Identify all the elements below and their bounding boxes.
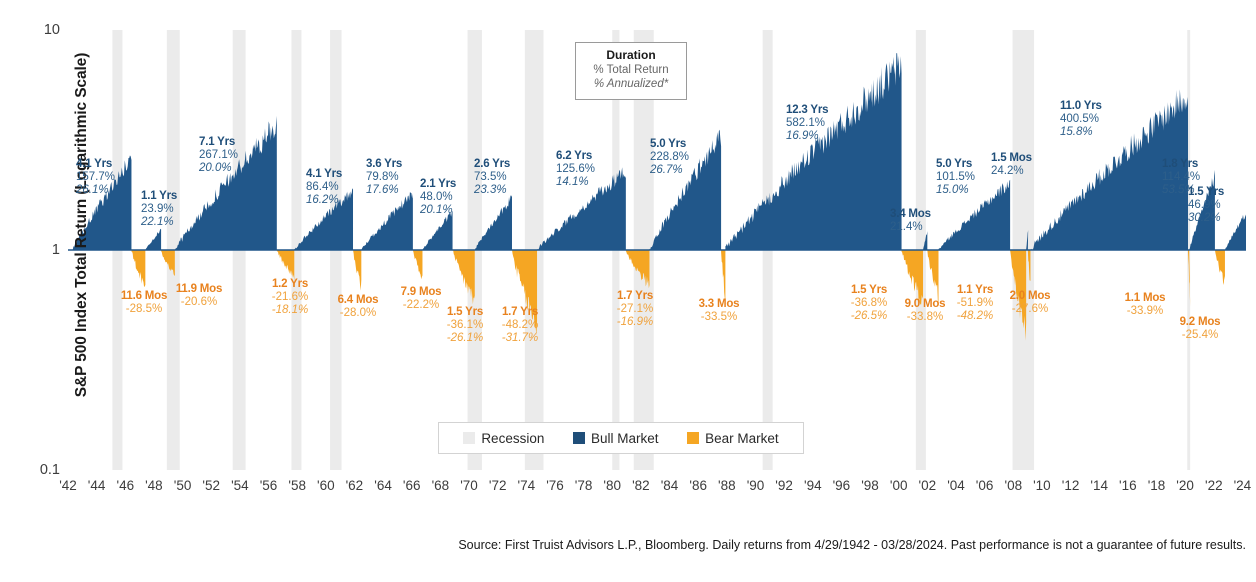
x-tick-62: '62 [346, 478, 364, 493]
bull-market-area [145, 229, 161, 250]
recession-swatch-icon [463, 432, 475, 444]
bull-market-swatch-icon [573, 432, 585, 444]
x-tick-96: '96 [833, 478, 851, 493]
x-tick-90: '90 [747, 478, 765, 493]
x-tick-48: '48 [145, 478, 163, 493]
x-tick-84: '84 [661, 478, 679, 493]
bull-market-area [939, 180, 1011, 250]
duration-key-box: Duration % Total Return % Annualized* [575, 42, 687, 100]
bull-market-area [649, 130, 721, 250]
bull-market-area [1225, 215, 1246, 250]
x-tick-74: '74 [518, 478, 536, 493]
x-tick-06: '06 [976, 478, 994, 493]
bear-market-swatch-icon [687, 432, 699, 444]
x-tick-16: '16 [1119, 478, 1137, 493]
x-axis: '42'44'46'48'50'52'54'56'58'60'62'64'66'… [68, 478, 1246, 502]
bull-market-area [1189, 170, 1215, 250]
x-tick-98: '98 [861, 478, 879, 493]
bull-market-area [361, 192, 413, 250]
duration-key-title: Duration [582, 48, 680, 63]
x-tick-78: '78 [575, 478, 593, 493]
x-tick-02: '02 [919, 478, 937, 493]
duration-key-annualized: % Annualized* [582, 77, 680, 91]
y-tick-0.1: 0.1 [40, 462, 60, 478]
chart-page: 10 1 0.1 S&P 500 Index Total Return (Log… [0, 0, 1256, 582]
x-tick-18: '18 [1148, 478, 1166, 493]
x-tick-56: '56 [260, 478, 278, 493]
source-note: Source: First Truist Advisors L.P., Bloo… [0, 538, 1246, 552]
x-tick-64: '64 [374, 478, 392, 493]
bull-market-area [294, 188, 353, 250]
legend-item-bull-market[interactable]: Bull Market [573, 431, 659, 446]
bull-market-area [537, 167, 626, 250]
bull-market-area [725, 53, 901, 250]
x-tick-70: '70 [460, 478, 478, 493]
bull-market-area [175, 116, 277, 250]
bear-market-area [902, 250, 923, 305]
x-tick-68: '68 [432, 478, 450, 493]
x-tick-10: '10 [1033, 478, 1051, 493]
y-axis-title: S&P 500 Index Total Return (Logarithmic … [73, 25, 91, 425]
legend-label-bear-market: Bear Market [705, 431, 779, 446]
x-tick-04: '04 [947, 478, 965, 493]
x-tick-46: '46 [117, 478, 135, 493]
x-tick-66: '66 [403, 478, 421, 493]
x-tick-76: '76 [546, 478, 564, 493]
x-tick-42: '42 [59, 478, 77, 493]
bear-market-area [927, 250, 938, 303]
x-tick-86: '86 [689, 478, 707, 493]
x-tick-08: '08 [1005, 478, 1023, 493]
legend-item-bear-market[interactable]: Bear Market [687, 431, 779, 446]
x-tick-80: '80 [603, 478, 621, 493]
x-tick-88: '88 [718, 478, 736, 493]
x-tick-14: '14 [1090, 478, 1108, 493]
y-tick-1: 1 [52, 242, 60, 258]
x-tick-60: '60 [317, 478, 335, 493]
duration-key-total-return: % Total Return [582, 63, 680, 77]
legend-label-recession: Recession [481, 431, 544, 446]
x-tick-72: '72 [489, 478, 507, 493]
x-tick-50: '50 [174, 478, 192, 493]
bull-market-area [422, 211, 452, 250]
x-tick-58: '58 [288, 478, 306, 493]
x-tick-52: '52 [202, 478, 220, 493]
bear-market-area [131, 250, 145, 287]
x-tick-00: '00 [890, 478, 908, 493]
x-tick-20: '20 [1176, 478, 1194, 493]
bear-market-area [353, 250, 361, 291]
x-tick-94: '94 [804, 478, 822, 493]
x-tick-22: '22 [1205, 478, 1223, 493]
bear-market-area [1215, 250, 1225, 285]
legend-label-bull-market: Bull Market [591, 431, 659, 446]
bear-market-area [413, 250, 423, 279]
chart-legend: Recession Bull Market Bear Market [438, 422, 804, 454]
x-tick-44: '44 [88, 478, 106, 493]
y-tick-10: 10 [44, 22, 60, 38]
legend-item-recession[interactable]: Recession [463, 431, 544, 446]
x-tick-12: '12 [1062, 478, 1080, 493]
bear-market-area [721, 250, 725, 301]
x-tick-24: '24 [1234, 478, 1252, 493]
bull-market-area [1030, 89, 1188, 250]
x-tick-92: '92 [775, 478, 793, 493]
x-tick-82: '82 [632, 478, 650, 493]
x-tick-54: '54 [231, 478, 249, 493]
